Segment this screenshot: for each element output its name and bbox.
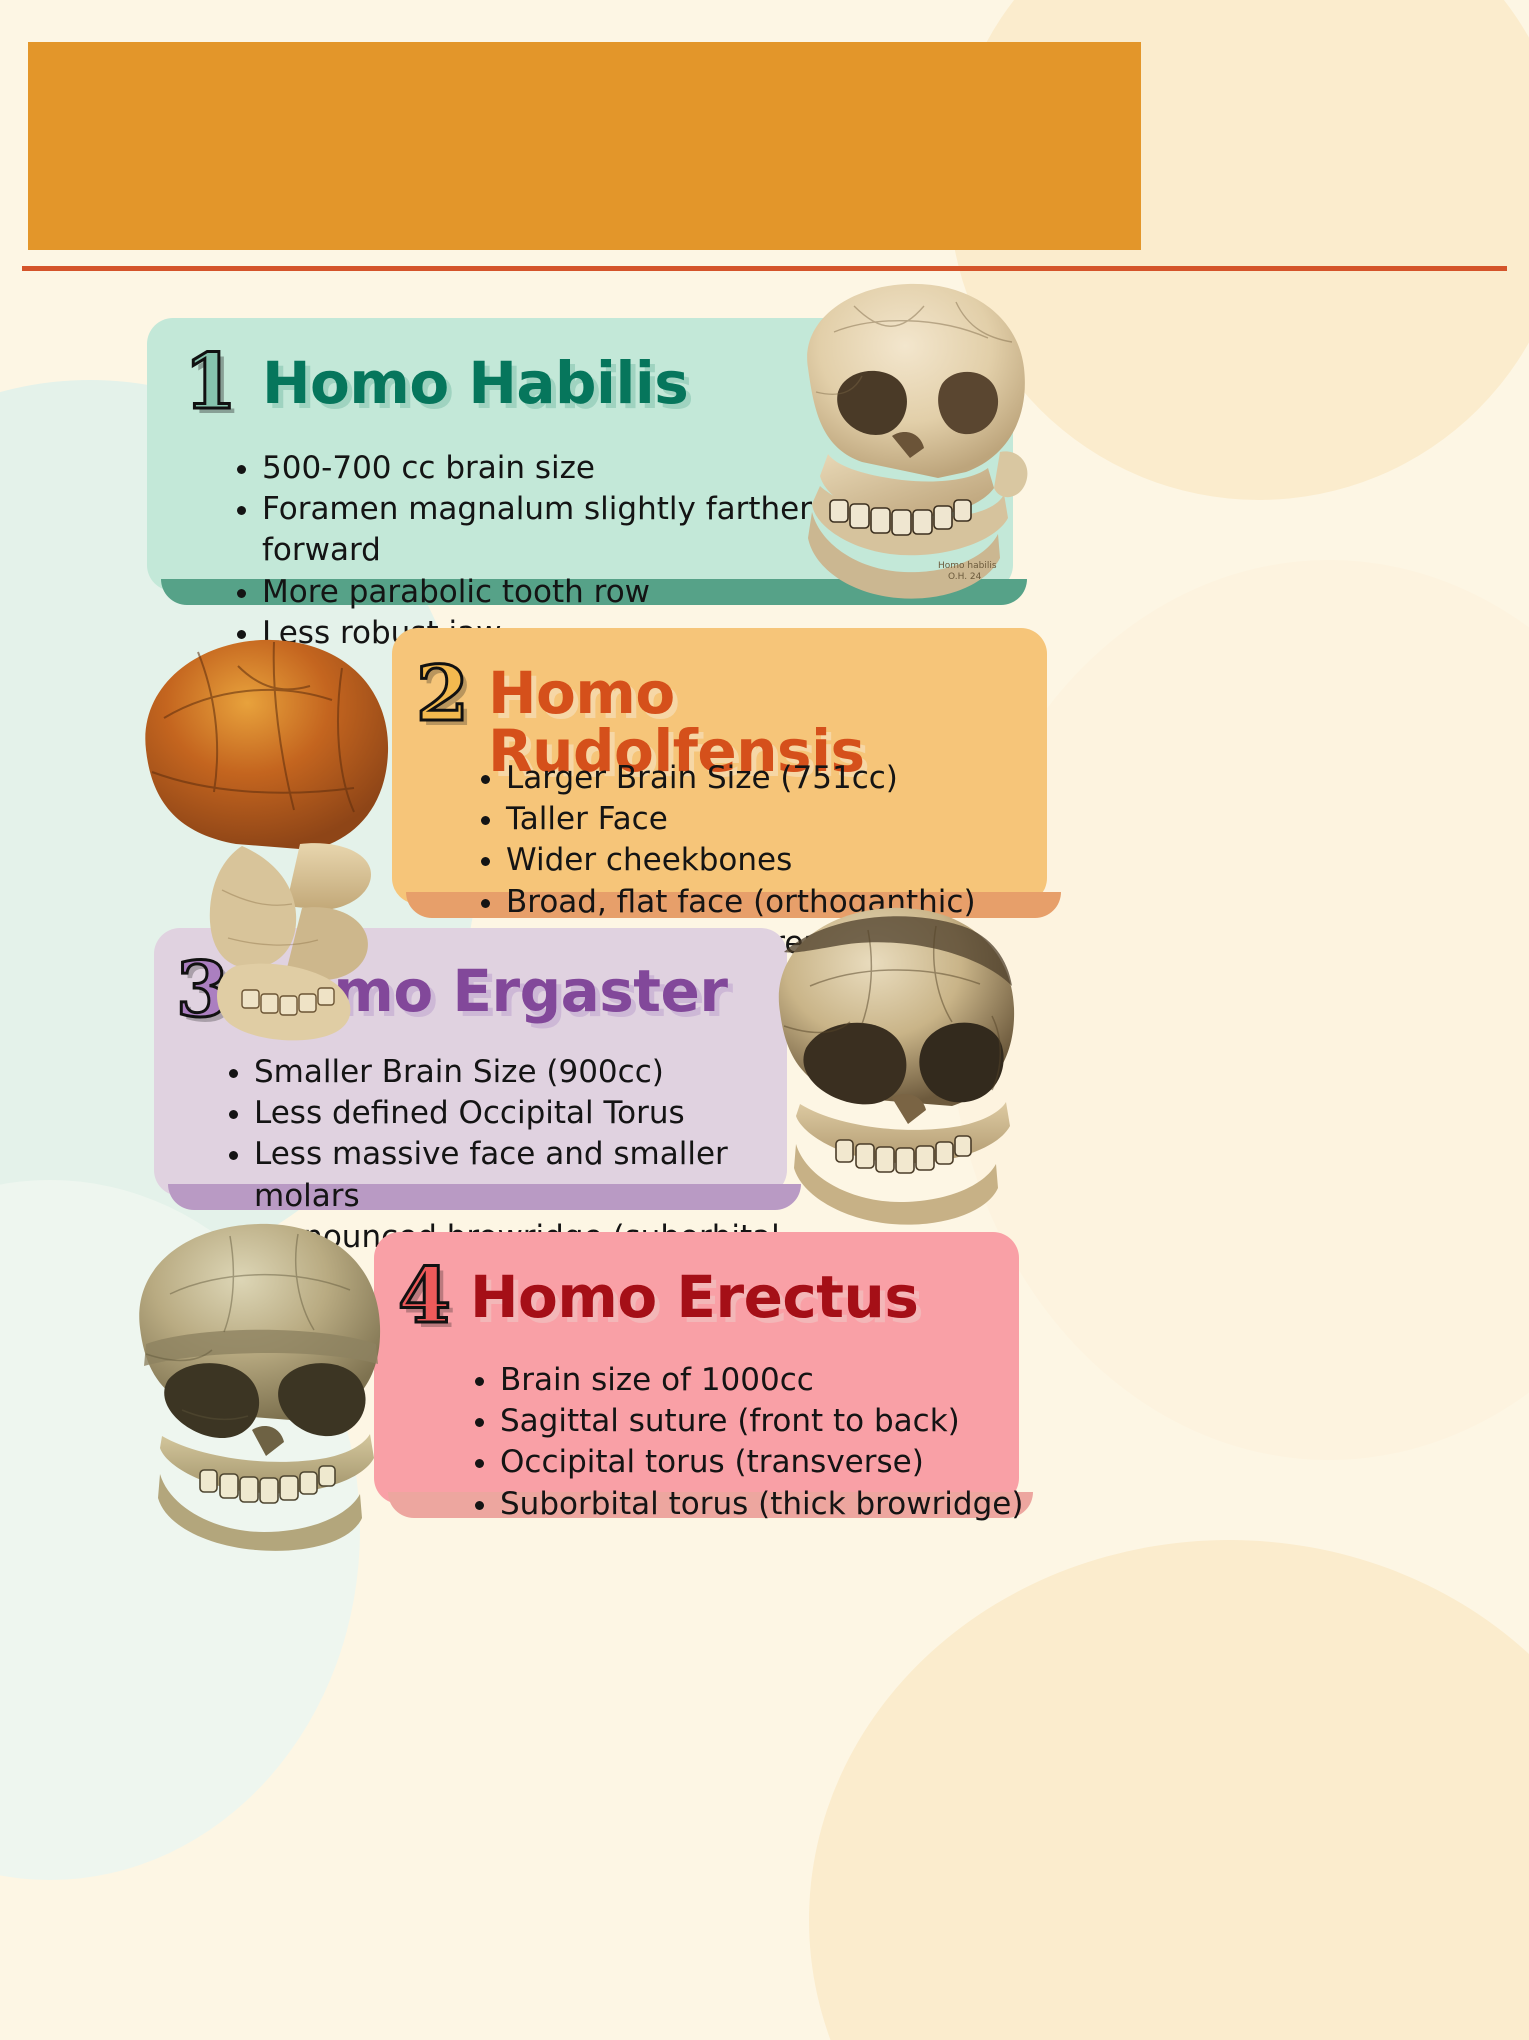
header-divider-rule [22,266,1507,271]
card-bullet-list-4: Brain size of 1000cc Sagittal suture (fr… [470,1360,1040,1525]
homo-habilis-skull-image: Homo habilis O.H. 24 [742,272,1042,612]
svg-text:O.H. 24: O.H. 24 [948,572,982,582]
header-banner [28,42,1141,250]
svg-text:Homo habilis: Homo habilis [938,561,997,571]
card-title-homo-habilis: Homo Habilis [262,354,688,412]
card-homo-erectus: 4 Homo Erectus Brain size of 1000cc Sagi… [374,1232,1019,1504]
list-item: Occipital torus (transverse) [500,1442,1040,1483]
card-homo-rudolfensis: 2 Homo Rudolfensis Larger Brain Size (75… [392,628,1047,904]
list-item: Suborbital torus (thick browridge) [500,1484,1040,1525]
homo-erectus-skull-image [110,1214,410,1554]
list-item: Wider cheekbones [506,840,1066,881]
card-title-homo-erectus: Homo Erectus [470,1268,918,1326]
list-item: Brain size of 1000cc [500,1360,1040,1401]
list-item: Less massive face and smaller molars [254,1134,799,1216]
list-item: Sagittal suture (front to back) [500,1401,1040,1442]
peach-blob-bottom-right [809,1540,1529,2040]
homo-rudolfensis-skull-image [118,622,418,1062]
list-item: Larger Brain Size (751cc) [506,758,1066,799]
card-number-1: 1 [184,344,237,420]
homo-ergaster-skull-image [740,900,1040,1230]
list-item: Taller Face [506,799,1066,840]
card-number-2: 2 [416,656,469,732]
list-item: Less defined Occipital Torus [254,1093,799,1134]
